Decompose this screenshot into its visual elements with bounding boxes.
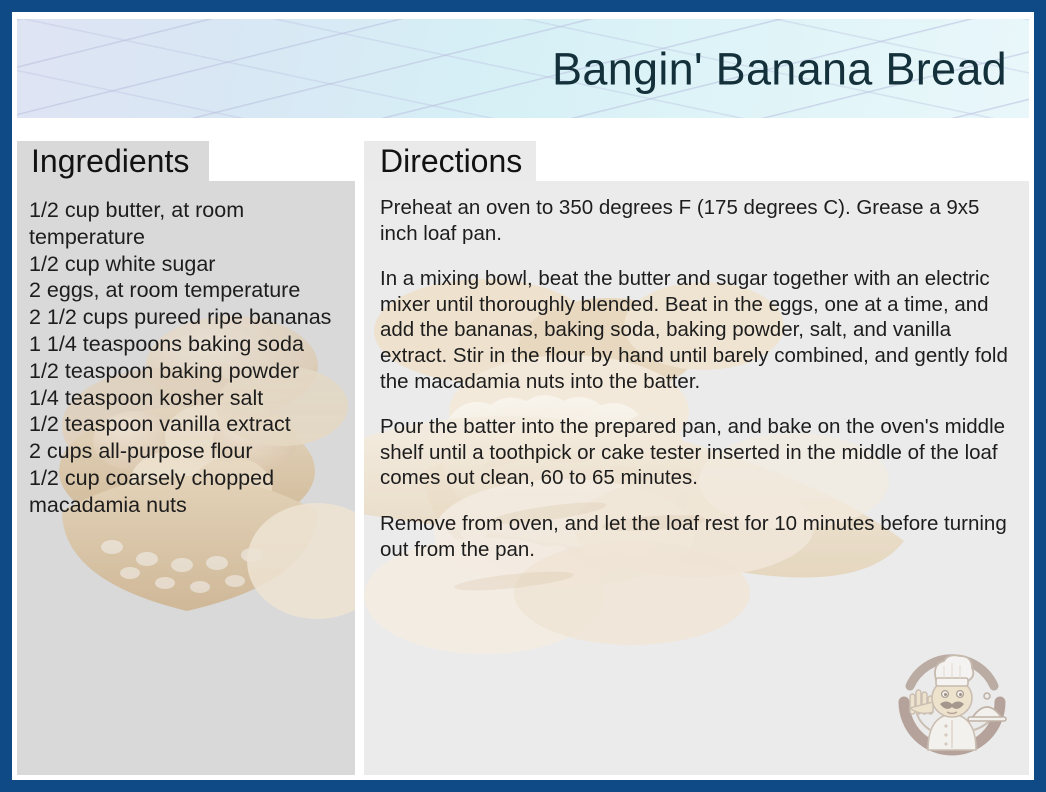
ingredient-item: 1/2 cup white sugar — [29, 251, 345, 278]
ingredient-item: 2 eggs, at room temperature — [29, 277, 345, 304]
directions-title: Directions — [380, 141, 522, 181]
direction-step: In a mixing bowl, beat the butter and su… — [380, 266, 1020, 394]
recipe-slide: Bangin' Banana Bread — [0, 0, 1046, 792]
ingredient-item: 1/2 teaspoon vanilla extract — [29, 411, 345, 438]
ingredient-item: 1 1/4 teaspoons baking soda — [29, 331, 345, 358]
ingredient-item: 1/4 teaspoon kosher salt — [29, 385, 345, 412]
ingredient-item: 1/2 cup butter, at room temperature — [29, 197, 345, 251]
directions-list: Preheat an oven to 350 degrees F (175 de… — [380, 195, 1020, 562]
chef-mascot-logo — [892, 642, 1012, 762]
direction-step: Pour the batter into the prepared pan, a… — [380, 414, 1020, 491]
ingredient-item: 1/2 teaspoon baking powder — [29, 358, 345, 385]
ingredients-list: 1/2 cup butter, at room temperature 1/2 … — [29, 197, 345, 519]
direction-step: Remove from oven, and let the loaf rest … — [380, 511, 1020, 562]
ingredient-item: 1/2 cup coarsely chopped macadamia nuts — [29, 465, 345, 519]
ingredients-title: Ingredients — [31, 141, 189, 181]
direction-step: Preheat an oven to 350 degrees F (175 de… — [380, 195, 1020, 246]
title-banner: Bangin' Banana Bread — [17, 19, 1029, 118]
page-title: Bangin' Banana Bread — [552, 46, 1007, 91]
ingredient-item: 2 cups all-purpose flour — [29, 438, 345, 465]
ingredients-column: Ingredients 1/2 cup butter, at room temp… — [17, 141, 355, 775]
ingredient-item: 2 1/2 cups pureed ripe bananas — [29, 304, 345, 331]
